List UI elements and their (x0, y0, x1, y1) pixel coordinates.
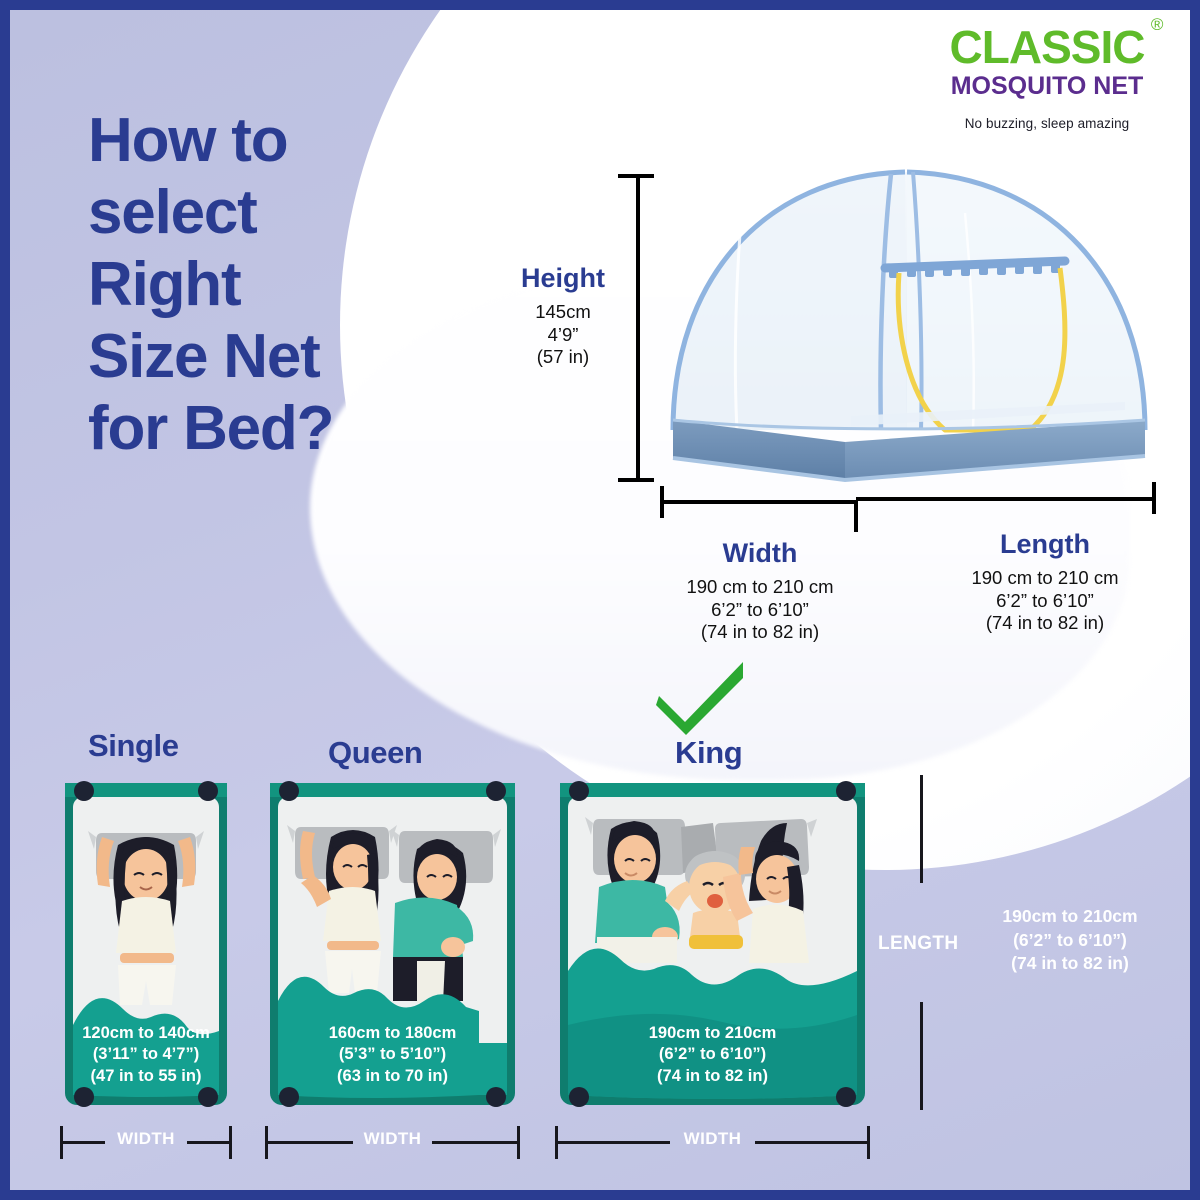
bed-king[interactable]: 190cm to 210cm (6’2” to 6’10”) (74 in to… (555, 775, 870, 1110)
page-title: How to select Right Size Net for Bed? (88, 105, 333, 465)
brand-tagline: No buzzing, sleep amazing (922, 117, 1172, 131)
length-cm: 190 cm to 210 cm (930, 567, 1160, 590)
height-cm: 145cm (498, 301, 628, 324)
width-ruler-label-single: WIDTH (60, 1129, 232, 1149)
bed-queen-dimensions: 160cm to 180cm (5’3” to 5’10”) (63 in to… (265, 1023, 520, 1087)
width-cap-center (854, 500, 858, 532)
bed-queen-inches: (63 in to 70 in) (265, 1066, 520, 1087)
height-cap-bottom (618, 478, 654, 482)
registered-trademark-icon: ® (1151, 16, 1163, 33)
height-label-block: Height 145cm 4’9” (57 in) (498, 262, 628, 369)
length-label-block: Length 190 cm to 210 cm 6’2” to 6’10” (7… (930, 528, 1160, 635)
headline-line-1: How to (88, 105, 333, 177)
bed-queen-feet: (5’3” to 5’10”) (265, 1044, 520, 1065)
brand-name-text: CLASSIC (950, 21, 1145, 73)
length-ruler-label: LENGTH (878, 933, 959, 955)
check-icon (655, 660, 747, 735)
bed-single-dimensions: 120cm to 140cm (3’11” to 4’7”) (47 in to… (60, 1023, 232, 1087)
length-end-bottom (920, 1106, 923, 1110)
bed-title-king: King (675, 735, 742, 771)
width-ruler-queen: WIDTH (265, 1126, 520, 1160)
headline-line-4: Size Net (88, 321, 333, 393)
length-feet: 6’2” to 6’10” (930, 590, 1160, 613)
length-bar-top (920, 775, 923, 883)
width-ruler-single: WIDTH (60, 1126, 232, 1160)
bed-length-inches: (74 in to 82 in) (975, 952, 1165, 976)
height-label: Height (498, 262, 628, 295)
bed-king-feet: (6’2” to 6’10”) (555, 1044, 870, 1065)
height-inches: (57 in) (498, 346, 628, 369)
poster-canvas: CLASSIC ® MOSQUITO NET No buzzing, sleep… (10, 10, 1190, 1190)
brand-logo: CLASSIC ® MOSQUITO NET No buzzing, sleep… (922, 24, 1172, 131)
length-end-top (920, 775, 923, 779)
length-dimension-line (856, 497, 1156, 501)
height-feet: 4’9” (498, 324, 628, 347)
mosquito-net-icon (655, 158, 1160, 498)
poster-frame: CLASSIC ® MOSQUITO NET No buzzing, sleep… (0, 0, 1200, 1200)
width-label-block: Width 190 cm to 210 cm 6’2” to 6’10” (74… (650, 537, 870, 644)
bed-length-feet: (6’2” to 6’10”) (975, 929, 1165, 953)
bed-king-inches: (74 in to 82 in) (555, 1066, 870, 1087)
mosquito-net-illustration (655, 158, 1160, 498)
width-ruler-label-queen: WIDTH (265, 1129, 520, 1149)
bed-title-queen: Queen (328, 735, 422, 771)
width-ruler-king: WIDTH (555, 1126, 870, 1160)
brand-subtitle: MOSQUITO NET (922, 74, 1172, 99)
width-label: Width (650, 537, 870, 570)
bed-king-dimensions: 190cm to 210cm (6’2” to 6’10”) (74 in to… (555, 1023, 870, 1087)
bed-single-feet: (3’11” to 4’7”) (60, 1044, 232, 1065)
width-ruler-label-king: WIDTH (555, 1129, 870, 1149)
bed-title-single: Single (88, 728, 179, 764)
bed-queen-cm: 160cm to 180cm (265, 1023, 520, 1044)
length-bar-bottom (920, 1002, 923, 1110)
recommended-check (655, 660, 747, 735)
length-cap-right (1152, 482, 1156, 514)
headline-line-3: Right (88, 249, 333, 321)
width-feet: 6’2” to 6’10” (650, 599, 870, 622)
brand-name: CLASSIC ® (950, 24, 1145, 70)
length-inches: (74 in to 82 in) (930, 612, 1160, 635)
bed-single-cm: 120cm to 140cm (60, 1023, 232, 1044)
bed-king-cm: 190cm to 210cm (555, 1023, 870, 1044)
bed-length-cm: 190cm to 210cm (975, 905, 1165, 929)
length-label: Length (930, 528, 1160, 561)
bed-single[interactable]: 120cm to 140cm (3’11” to 4’7”) (47 in to… (60, 775, 232, 1110)
height-dimension-line (636, 176, 640, 482)
headline-line-5: for Bed? (88, 393, 333, 465)
width-cm: 190 cm to 210 cm (650, 576, 870, 599)
width-dimension-line (662, 500, 858, 504)
headline-line-2: select (88, 177, 333, 249)
bed-queen[interactable]: 160cm to 180cm (5’3” to 5’10”) (63 in to… (265, 775, 520, 1110)
width-cap-left (660, 486, 664, 518)
bed-length-dimensions: 190cm to 210cm (6’2” to 6’10”) (74 in to… (975, 905, 1165, 976)
bed-single-inches: (47 in to 55 in) (60, 1066, 232, 1087)
height-cap-top (618, 174, 654, 178)
width-inches: (74 in to 82 in) (650, 621, 870, 644)
